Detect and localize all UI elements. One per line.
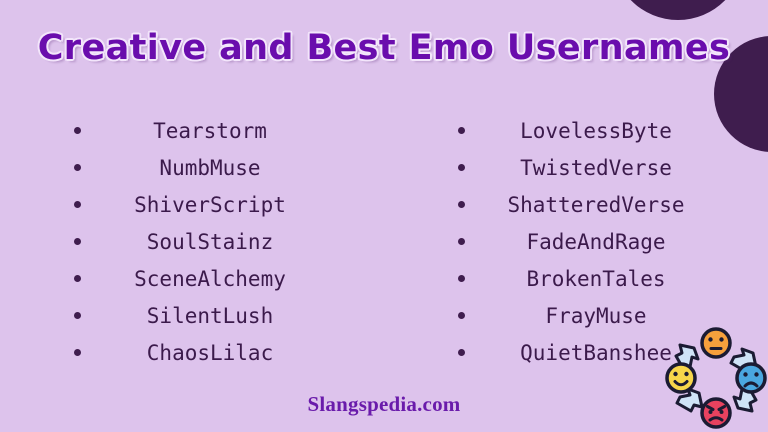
happy-face-yellow-icon <box>667 364 695 392</box>
mood-cycle-illustration <box>664 326 768 430</box>
bullet-icon <box>458 238 465 245</box>
bullet-icon <box>74 275 81 282</box>
username-label: SoulStainz <box>147 230 273 254</box>
username-label: QuietBanshee <box>520 341 672 365</box>
bullet-icon <box>74 312 81 319</box>
site-credit: Slangspedia.com <box>308 392 461 416</box>
username-label: FadeAndRage <box>526 230 665 254</box>
username-label: TwistedVerse <box>520 156 672 180</box>
list-item: SoulStainz <box>58 223 362 260</box>
bullet-icon <box>74 201 81 208</box>
sad-face-blue-icon <box>737 364 765 392</box>
list-item: LovelessByte <box>442 112 750 149</box>
bullet-icon <box>74 238 81 245</box>
bullet-icon <box>74 127 81 134</box>
list-item: ShatteredVerse <box>442 186 750 223</box>
username-label: ShatteredVerse <box>507 193 684 217</box>
username-label: SilentLush <box>147 304 273 328</box>
list-item: SceneAlchemy <box>58 260 362 297</box>
poster-canvas: Creative and Best Emo Usernames Tearstor… <box>0 0 768 432</box>
username-label: NumbMuse <box>159 156 260 180</box>
page-title: Creative and Best Emo Usernames <box>38 28 731 68</box>
page-title-container: Creative and Best Emo Usernames <box>0 28 768 68</box>
username-columns: Tearstorm NumbMuse ShiverScript SoulStai… <box>0 112 768 371</box>
bullet-icon <box>458 349 465 356</box>
bullet-icon <box>458 127 465 134</box>
list-item: FadeAndRage <box>442 223 750 260</box>
bullet-icon <box>458 275 465 282</box>
bullet-icon <box>74 164 81 171</box>
bullet-icon <box>458 201 465 208</box>
list-item: NumbMuse <box>58 149 362 186</box>
footer: Slangspedia.com <box>0 392 768 417</box>
list-item: Tearstorm <box>58 112 362 149</box>
list-item: ShiverScript <box>58 186 362 223</box>
neutral-face-orange-icon <box>702 329 730 357</box>
decorative-circle-top <box>612 0 744 20</box>
username-label: ShiverScript <box>134 193 286 217</box>
bullet-icon <box>458 164 465 171</box>
username-label: LovelessByte <box>520 119 672 143</box>
username-label: Tearstorm <box>153 119 267 143</box>
username-label: ChaosLilac <box>147 341 273 365</box>
bullet-icon <box>74 349 81 356</box>
list-item: TwistedVerse <box>442 149 750 186</box>
list-item: ChaosLilac <box>58 334 362 371</box>
username-label: FrayMuse <box>545 304 646 328</box>
list-item: SilentLush <box>58 297 362 334</box>
username-label: SceneAlchemy <box>134 267 286 291</box>
username-column-left: Tearstorm NumbMuse ShiverScript SoulStai… <box>0 112 384 371</box>
username-label: BrokenTales <box>526 267 665 291</box>
list-item: BrokenTales <box>442 260 750 297</box>
bullet-icon <box>458 312 465 319</box>
angry-face-red-icon <box>702 399 730 427</box>
